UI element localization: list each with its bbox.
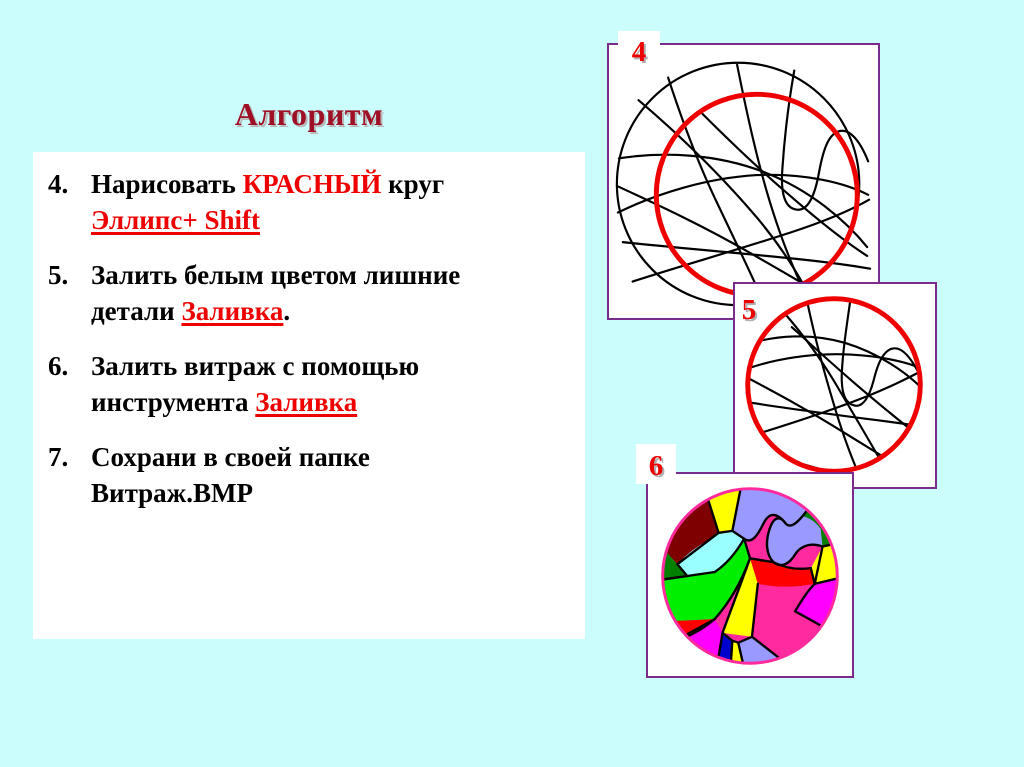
step-text: Залить белым цветом лишниедетали Заливка… [91, 257, 581, 329]
step-number: 4. [39, 166, 91, 202]
step-number: 5. [39, 257, 91, 293]
step-number: 7. [39, 439, 91, 475]
step-text-line: Витраж.BMP [91, 475, 581, 511]
step-text: Нарисовать КРАСНЫЙ кругЭллипс+ Shift [91, 166, 581, 238]
step-text: Сохрани в своей папкеВитраж.BMP [91, 439, 581, 511]
step-text-segment: Залить белым цветом лишние [91, 260, 460, 290]
panel-number-6: 6 [636, 444, 676, 484]
step-text-segment: Эллипс+ Shift [91, 205, 260, 235]
illustration-panel-4 [607, 43, 880, 320]
step-text-line: Залить белым цветом лишние [91, 257, 581, 293]
step-text-segment: Заливка [181, 296, 283, 326]
sketch-circle-with-red-circle [609, 45, 878, 318]
illustration-panel-5 [733, 282, 937, 489]
red-circle-with-curves [735, 284, 935, 487]
step-number: 6. [39, 348, 91, 384]
step-text-segment: КРАСНЫЙ [243, 169, 382, 199]
step-text-segment: Сохрани в своей папке [91, 442, 370, 472]
step-text-segment: Нарисовать [91, 169, 243, 199]
step-text-segment: детали [91, 296, 181, 326]
step-text-line: Залить витраж с помощью [91, 348, 581, 384]
step-text-segment: круг [381, 169, 444, 199]
content-panel: 4.Нарисовать КРАСНЫЙ кругЭллипс+ Shift5.… [33, 152, 585, 639]
page-title: Алгоритм [33, 96, 585, 133]
step-text-line: Сохрани в своей папке [91, 439, 581, 475]
step-item: 6.Залить витраж с помощьюинструмента Зал… [39, 348, 581, 420]
panel-number-5: 5 [735, 292, 763, 328]
step-text-segment: . [283, 296, 290, 326]
step-text: Залить витраж с помощьюинструмента Залив… [91, 348, 581, 420]
step-text-segment: инструмента [91, 387, 255, 417]
step-text-line: детали Заливка. [91, 293, 581, 329]
step-text-line: Эллипс+ Shift [91, 202, 581, 238]
step-text-segment: Витраж.BMP [91, 478, 253, 508]
step-text-line: инструмента Заливка [91, 384, 581, 420]
illustration-panel-6 [646, 472, 854, 678]
steps-list: 4.Нарисовать КРАСНЫЙ кругЭллипс+ Shift5.… [39, 166, 581, 530]
step-text-segment: Залить витраж с помощью [91, 351, 419, 381]
step-text-line: Нарисовать КРАСНЫЙ круг [91, 166, 581, 202]
step-item: 5.Залить белым цветом лишниедетали Залив… [39, 257, 581, 329]
step-text-segment: Заливка [255, 387, 357, 417]
panel-number-4: 4 [618, 31, 660, 73]
step-item: 4.Нарисовать КРАСНЫЙ кругЭллипс+ Shift [39, 166, 581, 238]
step-item: 7.Сохрани в своей папкеВитраж.BMP [39, 439, 581, 511]
stained-glass-circle [648, 474, 852, 676]
